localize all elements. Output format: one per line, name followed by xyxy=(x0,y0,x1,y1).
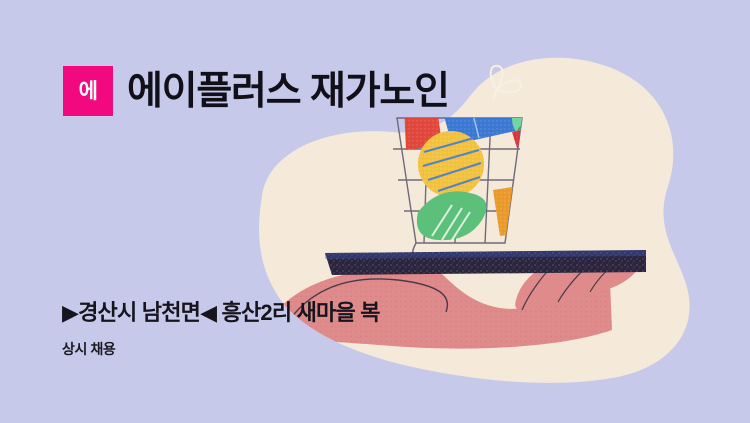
employment-type-text: 상시 채용 xyxy=(62,341,115,358)
page-title: 에이플러스 재가노인 xyxy=(127,72,449,111)
brand-badge-label: 에 xyxy=(79,81,98,102)
text-layer: 에 에이플러스 재가노인 ▶경산시 남천면◀ 흥산2리 새마을 복 상시 채용 xyxy=(0,0,750,423)
job-posting-banner: 에 에이플러스 재가노인 ▶경산시 남천면◀ 흥산2리 새마을 복 상시 채용 xyxy=(0,0,750,423)
location-text: ▶경산시 남천면◀ 흥산2리 새마을 복 xyxy=(62,300,380,325)
brand-badge: 에 xyxy=(63,66,113,116)
brand-title-row: 에 에이플러스 재가노인 xyxy=(63,66,449,116)
